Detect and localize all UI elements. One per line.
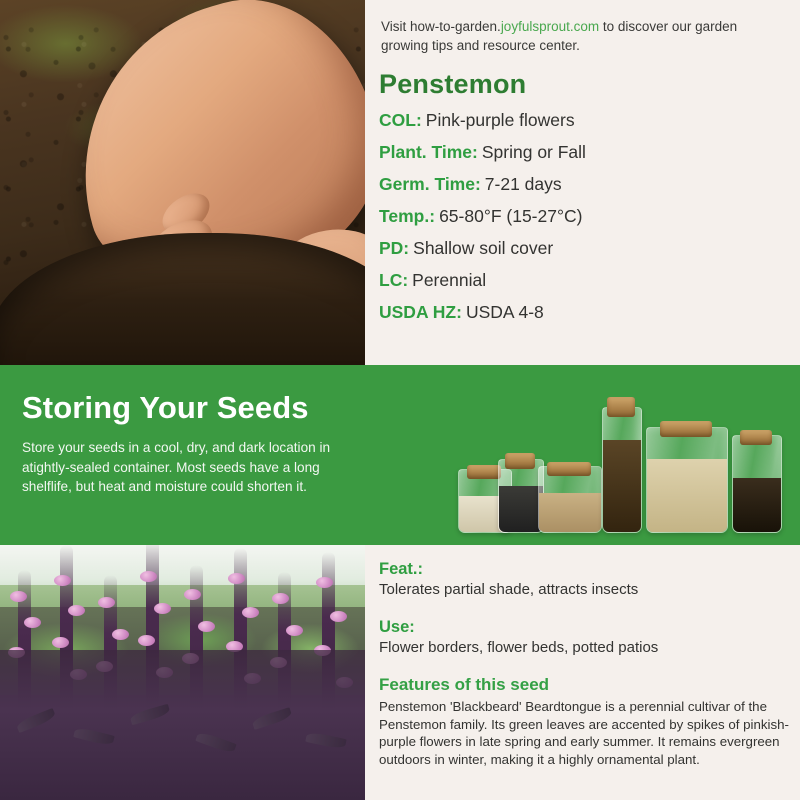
spec-label: Temp.:	[379, 206, 435, 226]
flower-bloom	[10, 591, 27, 602]
spec-list: COL:Pink-purple flowers Plant. Time:Spri…	[379, 112, 794, 336]
use-value: Flower borders, flower beds, potted pati…	[379, 639, 791, 657]
cork-icon	[660, 421, 712, 437]
flower-bloom	[184, 589, 201, 600]
flower-bloom	[330, 611, 347, 622]
spec-row-pd: PD:Shallow soil cover	[379, 240, 794, 258]
spec-value: 7-21 days	[485, 174, 562, 194]
jar-fill	[603, 440, 641, 532]
flower-bloom	[154, 603, 171, 614]
storage-title: Storing Your Seeds	[22, 390, 309, 426]
bottom-section: Feat.: Tolerates partial shade, attracts…	[0, 545, 800, 800]
spec-row-lc: LC:Perennial	[379, 272, 794, 290]
visit-prefix: Visit how-to-garden.	[381, 19, 501, 34]
storage-body: Store your seeds in a cool, dry, and dar…	[22, 438, 370, 497]
flower-bloom	[68, 605, 85, 616]
spec-label: Plant. Time:	[379, 142, 478, 162]
spec-value: USDA 4-8	[466, 302, 544, 322]
seed-jars-illustration	[450, 373, 795, 541]
flower-bloom	[272, 593, 289, 604]
spec-label: LC:	[379, 270, 408, 290]
flower-bloom	[52, 637, 69, 648]
spec-row-temp: Temp.:65-80°F (15-27°C)	[379, 208, 794, 226]
spec-value: Pink-purple flowers	[426, 110, 575, 130]
spec-row-usda-hz: USDA HZ:USDA 4-8	[379, 304, 794, 322]
seed-jar	[646, 427, 728, 533]
cork-icon	[547, 462, 591, 476]
spec-value: Spring or Fall	[482, 142, 586, 162]
spec-value: 65-80°F (15-27°C)	[439, 206, 582, 226]
flower-bloom	[24, 617, 41, 628]
spec-row-germ-time: Germ. Time:7-21 days	[379, 176, 794, 194]
features-block: Feat.: Tolerates partial shade, attracts…	[379, 560, 791, 599]
storage-banner: Storing Your Seeds Store your seeds in a…	[0, 365, 800, 545]
dark-foliage	[0, 650, 365, 800]
flower-bloom	[54, 575, 71, 586]
features-body: Penstemon 'Blackbeard' Beardtongue is a …	[379, 698, 791, 769]
feat-label: Feat.:	[379, 560, 791, 579]
cork-icon	[607, 397, 635, 417]
brand-domain-link[interactable]: joyfulsprout.com	[501, 19, 599, 34]
seed-jar	[732, 435, 782, 533]
spec-value: Shallow soil cover	[413, 238, 553, 258]
spec-label: Germ. Time:	[379, 174, 481, 194]
flower-bloom	[140, 571, 157, 582]
use-block: Use: Flower borders, flower beds, potted…	[379, 618, 791, 657]
soil-planting-photo	[0, 0, 365, 365]
top-section: Visit how-to-garden.joyfulsprout.com to …	[0, 0, 800, 365]
flower-bloom	[198, 621, 215, 632]
features-heading: Features of this seed	[379, 675, 791, 695]
flower-bloom	[242, 607, 259, 618]
page-title: Penstemon	[379, 69, 526, 100]
cork-icon	[505, 453, 535, 469]
flower-bloom	[112, 629, 129, 640]
cork-icon	[467, 465, 501, 479]
flower-bloom	[286, 625, 303, 636]
seed-features-block: Features of this seed Penstemon 'Blackbe…	[379, 675, 791, 769]
spec-panel: Visit how-to-garden.joyfulsprout.com to …	[365, 0, 800, 365]
spec-label: PD:	[379, 238, 409, 258]
spec-label: USDA HZ:	[379, 302, 462, 322]
seed-jar	[602, 407, 642, 533]
spec-row-col: COL:Pink-purple flowers	[379, 112, 794, 130]
jar-fill	[733, 478, 781, 532]
jar-fill	[499, 486, 543, 532]
details-panel: Feat.: Tolerates partial shade, attracts…	[365, 545, 800, 800]
feat-value: Tolerates partial shade, attracts insect…	[379, 581, 791, 599]
use-label: Use:	[379, 618, 791, 637]
spec-row-plant-time: Plant. Time:Spring or Fall	[379, 144, 794, 162]
cork-icon	[740, 430, 772, 445]
spec-label: COL:	[379, 110, 422, 130]
jar-fill	[539, 493, 601, 532]
visit-line: Visit how-to-garden.joyfulsprout.com to …	[381, 18, 781, 55]
jar-fill	[647, 459, 727, 532]
flower-bloom	[316, 577, 333, 588]
seed-jar	[538, 466, 602, 533]
flower-bloom	[98, 597, 115, 608]
seed-packet-page: Visit how-to-garden.joyfulsprout.com to …	[0, 0, 800, 800]
flower-bloom	[228, 573, 245, 584]
penstemon-photo	[0, 545, 365, 800]
spec-value: Perennial	[412, 270, 486, 290]
flower-bloom	[138, 635, 155, 646]
